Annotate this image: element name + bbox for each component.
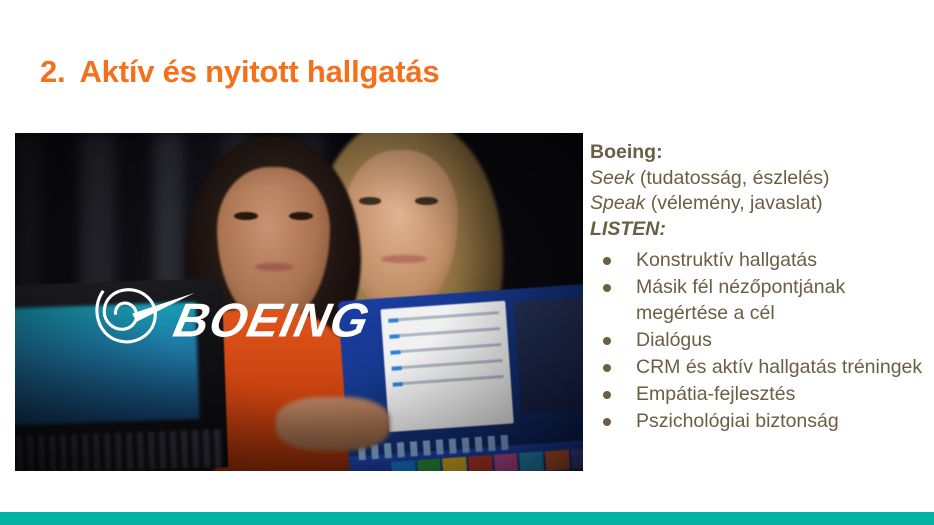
list-item: Dialógus bbox=[590, 327, 926, 353]
list-item: Pszichológiai biztonság bbox=[590, 408, 926, 434]
left-laptop-keyboard bbox=[15, 429, 224, 471]
content-line-seek: Seek (tudatosság, észlelés) bbox=[590, 166, 926, 192]
content-column: Boeing: Seek (tudatosság, észlelés) Spea… bbox=[590, 140, 926, 450]
photo-scene: BOEING bbox=[15, 133, 583, 471]
content-heading: Boeing: bbox=[590, 140, 926, 166]
content-line-seek-rest: (tudatosság, észlelés) bbox=[634, 167, 829, 189]
title-number: 2. bbox=[40, 54, 65, 90]
list-item: Konstruktív hallgatás bbox=[590, 247, 926, 273]
monitor-side-panel bbox=[514, 296, 583, 413]
boeing-logo: BOEING bbox=[95, 285, 447, 353]
content-subheading: LISTEN: bbox=[590, 217, 926, 243]
list-item: CRM és aktív hallgatás tréningek bbox=[590, 354, 926, 380]
person-dark-eye-left bbox=[234, 212, 258, 220]
boeing-logo-svg: BOEING bbox=[95, 285, 447, 353]
footer-accent-bar bbox=[0, 512, 934, 525]
person-blonde-eye-left bbox=[359, 197, 382, 204]
content-line-speak-emphasis: Speak bbox=[590, 192, 645, 214]
content-line-speak-rest: (vélemény, javaslat) bbox=[645, 192, 822, 214]
list-item: Empátia-fejlesztés bbox=[590, 381, 926, 407]
page-title: 2. Aktív és nyitott hallgatás bbox=[40, 54, 439, 90]
content-bullet-list: Konstruktív hallgatás Másik fél nézőpont… bbox=[590, 247, 926, 434]
person-blonde-eye-right bbox=[415, 197, 438, 204]
title-text: Aktív és nyitott hallgatás bbox=[79, 54, 439, 90]
content-line-seek-emphasis: Seek bbox=[590, 167, 634, 189]
slide: 2. Aktív és nyitott hallgatás bbox=[0, 0, 934, 525]
boeing-wordmark-text: BOEING bbox=[169, 294, 374, 347]
person-dark-arm bbox=[276, 397, 390, 451]
boeing-photo: BOEING bbox=[15, 133, 583, 471]
list-item: Másik fél nézőpontjának megértése a cél bbox=[590, 274, 926, 326]
content-line-speak: Speak (vélemény, javaslat) bbox=[590, 191, 926, 217]
